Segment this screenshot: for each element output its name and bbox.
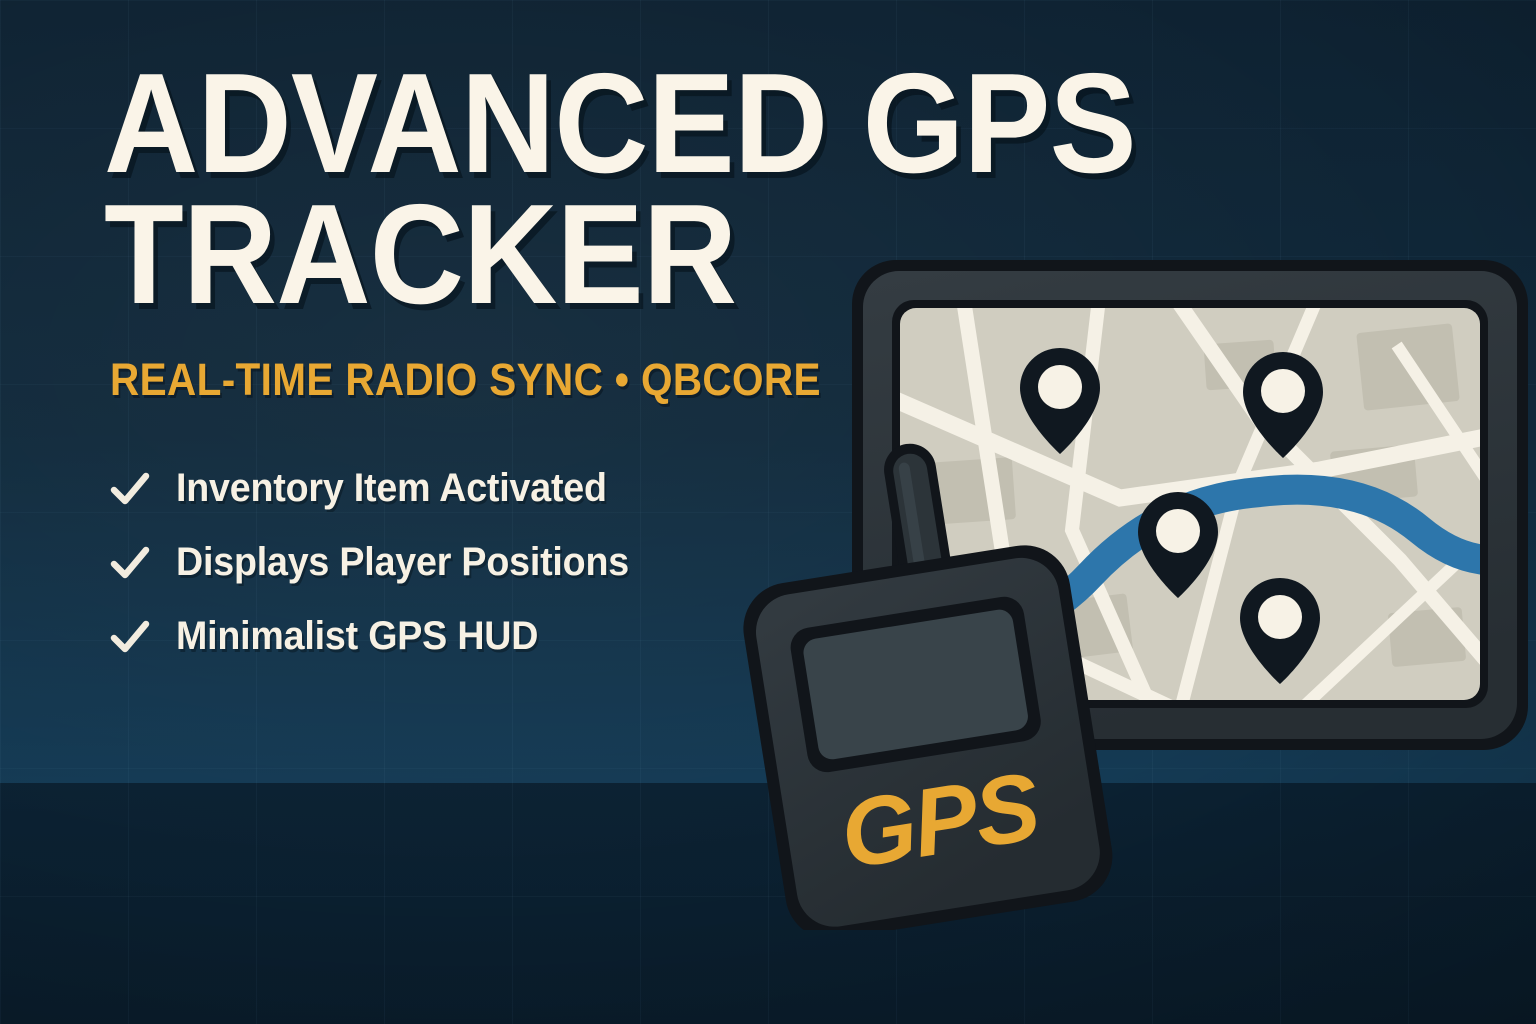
gps-illustration: GPS — [700, 230, 1536, 930]
check-icon — [108, 615, 152, 659]
feature-label: Minimalist GPS HUD — [176, 614, 538, 659]
promo-graphic: ADVANCED GPS TRACKER REAL-TIME RADIO SYN… — [0, 0, 1536, 1024]
headline-line-1: ADVANCED GPS — [104, 62, 822, 187]
feature-label: Displays Player Positions — [176, 540, 629, 585]
feature-label: Inventory Item Activated — [176, 466, 607, 511]
check-icon — [108, 467, 152, 511]
check-icon — [108, 541, 152, 585]
